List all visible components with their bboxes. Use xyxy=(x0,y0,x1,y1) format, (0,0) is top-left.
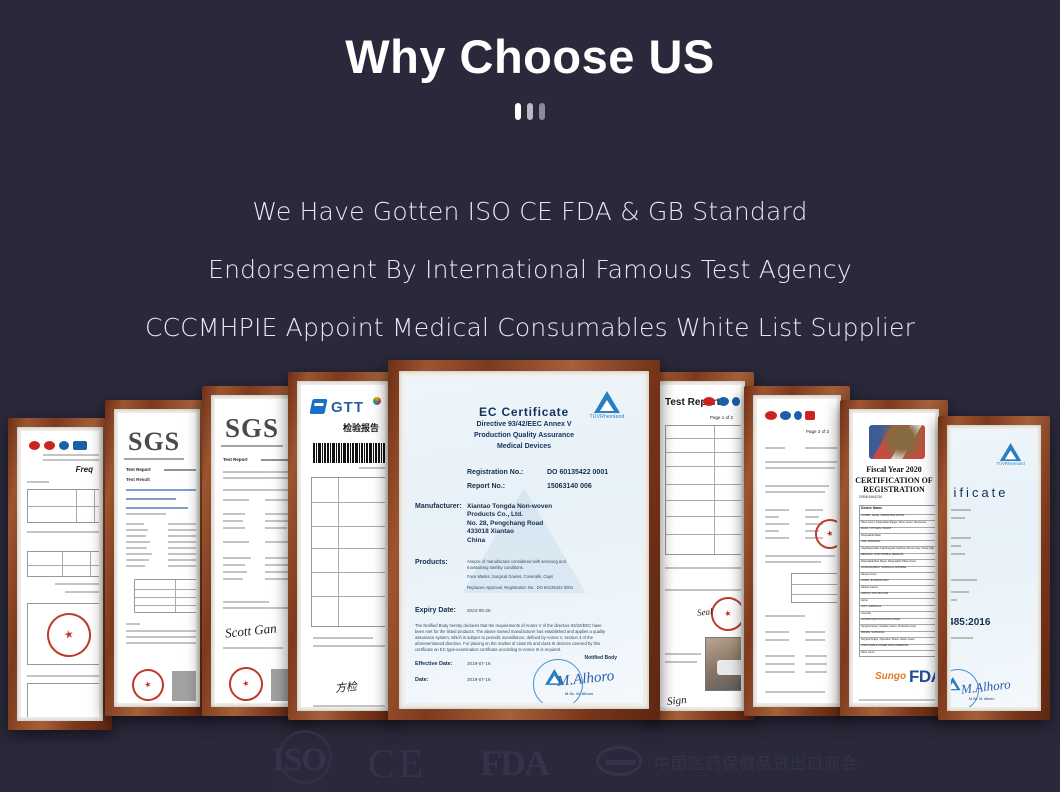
page-title: Why Choose US xyxy=(0,0,1060,80)
sgs-subheading: Test Result xyxy=(126,477,150,482)
iso-logo: ISO 9001:2015 xyxy=(264,736,356,788)
iso-standard: ISO 13485:2016 xyxy=(951,617,990,628)
cnas-mark-icon xyxy=(780,411,791,420)
report-no-label: Report No.: xyxy=(467,483,505,490)
ec-signer-name: M.Sc. M. Alhoro xyxy=(565,691,593,696)
signature: 方检 xyxy=(334,678,358,696)
certificate-fda-registration[interactable]: Fiscal Year 2020 CERTIFICATION OF REGIST… xyxy=(840,400,948,716)
iso-cert-title: Certificate xyxy=(951,485,1009,500)
qr-block xyxy=(172,671,196,701)
ce-logo-text: CE xyxy=(368,741,427,786)
gtt-dot-icon xyxy=(373,397,381,405)
registration-no-value: DO 60135422 0001 xyxy=(547,469,608,476)
iso-logo-text: ISO xyxy=(272,742,326,779)
device-table-header: Device Name xyxy=(861,506,882,510)
certificate-test-report-mask[interactable]: Test Report Page 1 of 2 Seal Sign xyxy=(646,372,754,720)
expiry-label: Expiry Date: xyxy=(415,607,456,614)
why-choose-us-section: Why Choose US We Have Gotten ISO CE FDA … xyxy=(0,0,1060,792)
accred-mark-icon xyxy=(59,441,69,450)
title-divider xyxy=(0,102,1060,120)
subtitle-line-2: Endorsement By International Famous Test… xyxy=(0,241,1060,299)
certificate-ec-tuv[interactable]: TÜVRheinland EC Certificate Directive 93… xyxy=(388,360,660,720)
ec-subtitle-1: Directive 93/42/EEC Annex V xyxy=(405,421,643,428)
red-approval-stamp xyxy=(129,666,167,703)
fda-title-1: Fiscal Year 2020 xyxy=(853,465,935,474)
sgs-logo: SGS xyxy=(128,427,180,457)
cma-mark-icon xyxy=(44,441,55,450)
cma-mark-icon xyxy=(765,411,777,420)
products-label: Products: xyxy=(415,559,448,566)
lab-mark-icon xyxy=(73,441,87,450)
mask-sample-photo xyxy=(705,637,741,691)
manufacturer-line-5: China xyxy=(467,537,552,545)
accred-mark-icon xyxy=(732,397,740,406)
gtt-logo-text: GTT xyxy=(331,399,364,416)
certificate-test-report-2[interactable]: Page 2 of 2 xyxy=(744,386,850,716)
accreditation-logo-bar: ISO 9001:2015 CE FDA 中国医药保健品进出口商会 C C C … xyxy=(0,732,1060,792)
ec-subtitle-2: Production Quality Assurance xyxy=(405,432,643,439)
lab-mark-icon xyxy=(805,411,815,420)
signature: Scott Gan xyxy=(224,620,277,641)
subtitle-line-1: We Have Gotten ISO CE FDA & GB Standard xyxy=(0,183,1060,241)
red-approval-stamp xyxy=(226,664,266,703)
products-line-3: Face Masks, Surgical Gowns, Coveralls, C… xyxy=(467,574,617,580)
report-no-value: 15063140 006 xyxy=(547,483,592,490)
certificate-gallery: Freq SGS xyxy=(0,360,1060,740)
certificate-gtt[interactable]: GTT 检验报告 xyxy=(288,372,398,720)
manufacturer-line-1: Xiantao Tongda Non-woven xyxy=(467,503,552,511)
manufacturer-line-3: No. 28, Pengchang Road xyxy=(467,520,552,528)
certificate-iso13485-tuv[interactable]: TÜVRheinland Certificate ISO 13485:2016 … xyxy=(938,416,1050,720)
fda-logo: FDA xyxy=(909,667,935,687)
fda-logo: FDA xyxy=(480,742,548,784)
cnas-mark-icon xyxy=(718,397,729,406)
effective-date-label: Effective Date: xyxy=(415,661,452,667)
products-line-4: Replaces Approval, Registration No.: DO … xyxy=(467,585,617,591)
certificate-cnas-gb-report[interactable]: Freq xyxy=(8,418,112,730)
subtitle-block: We Have Gotten ISO CE FDA & GB Standard … xyxy=(0,183,1060,357)
tuv-rheinland-logo: TÜVRheinland xyxy=(994,443,1027,467)
cert-heading: Freq xyxy=(76,465,93,474)
date-value: 2019-07-16 xyxy=(467,677,491,682)
section-header: Why Choose US xyxy=(0,0,1060,120)
divider-dot-2 xyxy=(527,103,533,120)
ec-certificate-title: EC Certificate xyxy=(405,405,643,419)
cccmhpie-logo-text: 中国医药保健品进出口商会 xyxy=(654,750,858,774)
cma-mark-icon xyxy=(703,397,715,406)
sgs-heading: Test Report xyxy=(223,457,248,462)
signature: Seal xyxy=(697,606,713,618)
manufacturer-line-2: Products Co., Ltd. xyxy=(467,511,552,519)
expiry-value: 2024-05-26 xyxy=(467,608,491,613)
manufacturer-label: Manufacturer: xyxy=(415,503,462,510)
ec-subtitle-3: Medical Devices xyxy=(405,443,643,450)
divider-dot-3 xyxy=(539,103,545,120)
products-line-2: maintaining sterility conditions. xyxy=(467,565,617,571)
page-label: Page 2 of 2 xyxy=(806,429,829,434)
us-eagle-flag-icon xyxy=(869,425,925,459)
device-22: Shoe Cover xyxy=(861,650,935,656)
red-approval-stamp xyxy=(812,516,837,552)
accred-mark-icon xyxy=(794,411,802,420)
sgs-logo: SGS xyxy=(225,413,279,444)
cccmhpie-logo-sub: C C C M H P I E xyxy=(656,772,745,778)
seal-tuv-icon xyxy=(951,677,958,690)
ce-logo: CE xyxy=(368,740,427,787)
gtt-heading: 检验报告 xyxy=(343,421,379,434)
cccmhpie-mark-icon xyxy=(596,746,642,776)
sungo-logo: Sungo xyxy=(875,671,906,682)
ec-body-line-5: certificate an EC type-examination certi… xyxy=(415,647,621,653)
notified-body-label: Notified Body xyxy=(585,655,618,661)
page-label: Page 1 of 2 xyxy=(710,415,733,420)
cnas-mark-icon xyxy=(29,441,40,450)
divider-dot-1 xyxy=(515,103,521,120)
effective-date-value: 2019-07-16 xyxy=(467,661,491,666)
gtt-logo-icon xyxy=(309,399,327,414)
fda-owner-no: DRM/3464234 xyxy=(859,495,882,499)
fda-logo-text: FDA xyxy=(480,743,548,783)
iso-logo-sub: 9001:2015 xyxy=(278,778,325,787)
date-label: Date: xyxy=(415,677,428,683)
manufacturer-line-4: 433018 Xiantao xyxy=(467,528,552,536)
fda-title-2: CERTIFICATION OF REGISTRATION xyxy=(853,476,935,494)
iso-signer: M.Sc. M. Alhoro xyxy=(969,697,994,701)
registration-no-label: Registration No.: xyxy=(467,469,523,476)
sgs-heading: Test Report xyxy=(126,467,151,472)
barcode xyxy=(313,443,385,463)
certificate-sgs-1[interactable]: SGS Test Report Test Result xyxy=(105,400,209,716)
subtitle-line-3: CCCMHPIE Appoint Medical Consumables Whi… xyxy=(0,299,1060,357)
signature-bottom: Sign xyxy=(666,694,687,707)
